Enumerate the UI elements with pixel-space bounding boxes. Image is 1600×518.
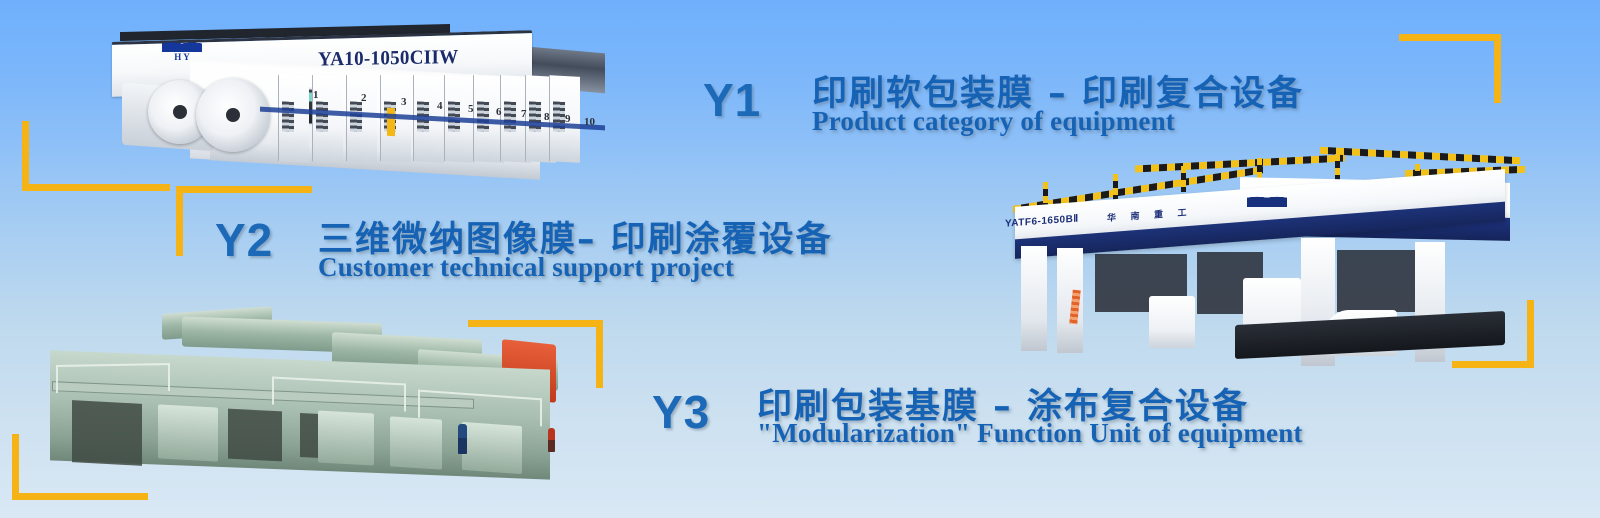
press-print-unit (278, 75, 309, 163)
press-logo-wings (162, 40, 202, 52)
bracket-bottom-left-horizontal (12, 493, 148, 500)
bracket-bottom-left-vertical (12, 434, 19, 500)
press-unit-number: 2 (361, 92, 367, 104)
laminator-roller-bank (1337, 250, 1415, 312)
entry-y3-english: "Modularization" Function Unit of equipm… (757, 418, 1303, 449)
laminator-safety-rail (1320, 147, 1520, 164)
machine-coating-line-image (32, 302, 572, 487)
coating-roller-box (462, 422, 522, 474)
entry-y1-code: Y1 (703, 73, 761, 127)
machine-laminator-image: 华 南 重 工 YATF6-1650BⅡ (985, 150, 1530, 365)
coating-roller-box (390, 416, 442, 469)
laminator-column (1021, 246, 1047, 351)
press-reel-hub (173, 105, 187, 119)
coating-operator (458, 424, 467, 454)
press-unit-cabinet (529, 101, 541, 132)
press-brand-initials: H Y (174, 52, 189, 62)
press-print-unit (346, 75, 377, 163)
entry-y2-code: Y2 (215, 213, 273, 267)
bracket-top-left-vertical (22, 121, 29, 191)
press-reel-hub (226, 108, 240, 122)
bracket-mid-left-vertical (596, 320, 603, 388)
press-unit-number: 3 (401, 96, 407, 108)
entry-y1-english: Product category of equipment (812, 106, 1175, 137)
coating-roller-box (318, 411, 374, 466)
laminator-side-cabinet (1149, 296, 1195, 348)
press-reel-right (196, 78, 270, 152)
entry-y3-code: Y3 (652, 385, 710, 439)
bracket-y2-horizontal (176, 186, 312, 193)
bracket-top-right-vertical (1494, 34, 1501, 103)
laminator-rail-post (1113, 174, 1118, 200)
press-unit-number: 9 (565, 113, 571, 125)
press-unit-cabinet (504, 101, 516, 132)
press-unit-number: 1 (313, 89, 319, 101)
press-unit-number: 10 (584, 116, 595, 128)
entry-y2-english: Customer technical support project (318, 252, 734, 283)
bracket-top-right-horizontal (1399, 34, 1501, 41)
press-unit-cabinet (316, 101, 328, 132)
laminator-rail-post (1335, 154, 1340, 180)
coating-drive-unit (72, 400, 142, 466)
press-yellow-marker (387, 108, 395, 136)
laminator-brand-logo (1247, 194, 1287, 207)
press-unit-cabinet (282, 101, 294, 132)
press-unit-number: 7 (521, 108, 527, 120)
bracket-top-left-horizontal (22, 184, 170, 191)
banner-root: H Y YA10-1050CIIW 1 2 3 4 5 6 7 8 9 10 (0, 0, 1600, 518)
press-unit-number: 4 (437, 100, 443, 112)
laminator-rail-post (1181, 166, 1186, 192)
coating-drive-unit (228, 409, 282, 462)
press-unit-number: 5 (468, 103, 474, 115)
bracket-y2-vertical (176, 186, 183, 256)
press-unit-number: 8 (544, 111, 550, 123)
coating-walkway-railing (56, 363, 170, 393)
coating-operator (548, 428, 555, 452)
press-unit-cabinet (477, 101, 489, 132)
press-unit-number: 6 (496, 106, 502, 118)
coating-roller-box (158, 404, 218, 461)
machine-gravure-press-image: H Y YA10-1050CIIW 1 2 3 4 5 6 7 8 9 10 (60, 8, 605, 178)
